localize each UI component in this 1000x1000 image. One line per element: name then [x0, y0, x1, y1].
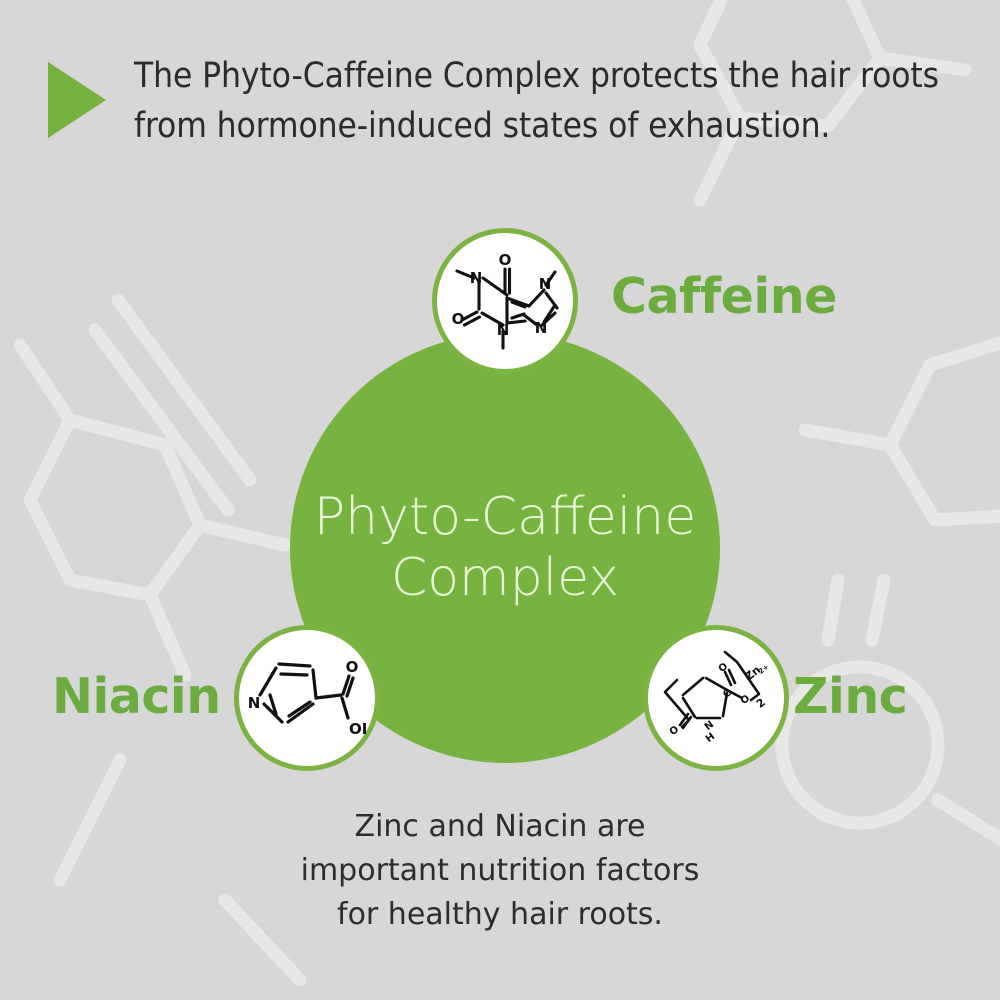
core-title-line-1: Phyto-Caffeine — [314, 487, 696, 548]
header-statement: The Phyto-Caffeine Complex protects the … — [48, 52, 968, 151]
footer-line-2: important nutrition factors — [0, 849, 1000, 893]
atom-label-o-left: O — [452, 310, 465, 328]
label-caffeine: Caffeine — [611, 268, 837, 325]
niacin-molecule-icon: N O OH — [248, 642, 366, 754]
atom-label-n7: N — [539, 275, 552, 293]
atom-label-o-top: O — [499, 251, 512, 269]
header-text: The Phyto-Caffeine Complex protects the … — [134, 52, 939, 151]
atom-label-o: O — [346, 658, 359, 676]
label-niacin: Niacin — [52, 668, 221, 725]
zinc-molecule-bubble: O C O N H O Zn 2+ 2 — [643, 625, 789, 771]
atom-label-h: H — [704, 731, 717, 745]
label-zinc: Zinc — [793, 668, 907, 725]
atom-label-o-carbonyl: O — [717, 661, 730, 675]
core-title: Phyto-Caffeine Complex — [314, 487, 696, 610]
atom-label-oh: OH — [349, 720, 366, 738]
atom-label-o-anion: O — [739, 693, 752, 707]
atom-label-subscript-2: 2 — [754, 696, 768, 711]
infographic-canvas: The Phyto-Caffeine Complex protects the … — [0, 0, 1000, 1000]
header-line-1: The Phyto-Caffeine Complex protects the … — [134, 52, 939, 102]
niacin-molecule-bubble: N O OH — [234, 625, 380, 771]
atom-label-o-ring: O — [668, 724, 681, 738]
triangle-right-icon — [48, 62, 106, 138]
caffeine-molecule-icon: O N O N N N — [445, 243, 565, 359]
core-title-line-2: Complex — [314, 548, 696, 609]
atom-label-n3: N — [497, 321, 510, 339]
footer-line-3: for healthy hair roots. — [0, 893, 1000, 937]
zinc-molecule-icon: O C O N H O Zn 2+ 2 — [655, 640, 777, 756]
caffeine-molecule-bubble: O N O N N N — [432, 228, 578, 374]
atom-label-n9: N — [535, 319, 548, 337]
atom-label-n: N — [248, 694, 260, 712]
atom-label-c: C — [721, 687, 734, 700]
footer-line-1: Zinc and Niacin are — [0, 805, 1000, 849]
footer-caption: Zinc and Niacin are important nutrition … — [0, 805, 1000, 937]
atom-label-n1: N — [470, 269, 483, 287]
header-line-2: from hormone-induced states of exhaustio… — [134, 102, 939, 152]
